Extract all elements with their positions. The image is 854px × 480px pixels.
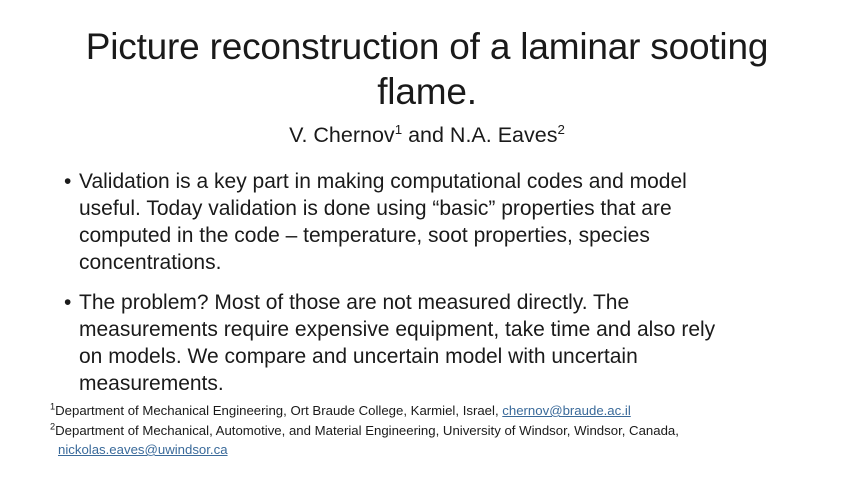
bullet-point-icon: • — [60, 289, 79, 316]
list-item: • Validation is a key part in making com… — [60, 168, 790, 276]
email-link-eaves[interactable]: nickolas.eaves@uwindsor.ca — [58, 442, 228, 457]
authors-conjunction: and N.A. Eaves — [402, 123, 557, 147]
slide-canvas: Picture reconstruction of a laminar soot… — [0, 0, 854, 480]
footnote-email-line-2: nickolas.eaves@uwindsor.ca — [50, 440, 830, 460]
body-content: • Validation is a key part in making com… — [60, 168, 790, 410]
page-title: Picture reconstruction of a laminar soot… — [64, 24, 790, 114]
author-first: V. Chernov — [289, 123, 395, 147]
bullet-point-icon: • — [60, 168, 79, 195]
email-link-chernov[interactable]: chernov@braude.ac.il — [502, 403, 630, 418]
footnote-block: 1Department of Mechanical Engineering, O… — [50, 401, 830, 460]
authors-line: V. Chernov1 and N.A. Eaves2 — [64, 122, 790, 148]
footnote-text-2: Department of Mechanical, Automotive, an… — [55, 423, 679, 438]
bullet-text-problem: The problem? Most of those are not measu… — [79, 289, 790, 397]
author-second-affiliation-marker: 2 — [557, 122, 564, 137]
footnote-affiliation-2: 2Department of Mechanical, Automotive, a… — [50, 421, 830, 441]
list-item: • The problem? Most of those are not mea… — [60, 289, 790, 397]
author-first-affiliation-marker: 1 — [395, 122, 402, 137]
footnote-affiliation-1: 1Department of Mechanical Engineering, O… — [50, 401, 830, 421]
page-title-line-2: flame. — [377, 71, 477, 112]
footnote-text-1: Department of Mechanical Engineering, Or… — [55, 403, 502, 418]
title-block: Picture reconstruction of a laminar soot… — [64, 24, 790, 148]
page-title-line-1: Picture reconstruction of a laminar soot… — [86, 26, 768, 67]
bullet-text-validation: Validation is a key part in making compu… — [79, 168, 790, 276]
